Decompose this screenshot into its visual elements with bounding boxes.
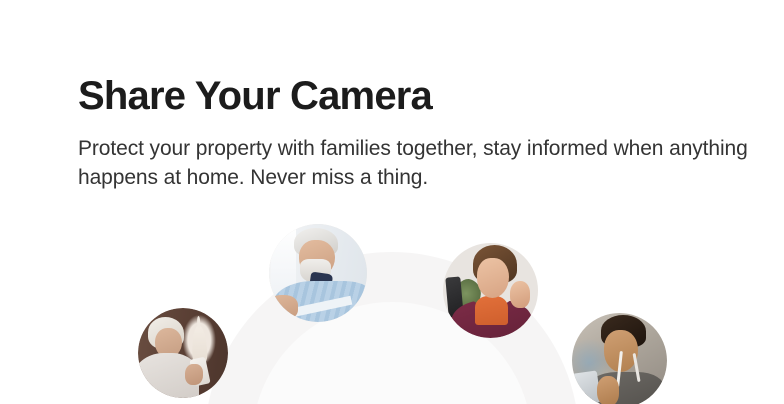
avatar-young-man — [572, 313, 667, 404]
avatar-elderly-man — [269, 224, 367, 322]
avatar-photo — [443, 243, 538, 338]
hero-text-block: Share Your Camera Protect your property … — [78, 72, 768, 192]
avatar-photo — [572, 313, 667, 404]
page-title: Share Your Camera — [78, 72, 768, 120]
hand-shape — [597, 376, 620, 404]
tee-shape — [475, 296, 507, 325]
avatar-elderly-woman — [138, 308, 228, 398]
avatar-young-woman — [443, 243, 538, 338]
hand-shape — [185, 364, 203, 386]
hero-subtitle: Protect your property with families toge… — [78, 134, 764, 192]
arm-shape — [269, 295, 298, 320]
hand-shape — [510, 281, 531, 308]
share-camera-hero-banner: Share Your Camera Protect your property … — [0, 0, 784, 404]
avatar-photo — [138, 308, 228, 398]
face-shape — [477, 258, 508, 298]
avatar-photo — [269, 224, 367, 322]
